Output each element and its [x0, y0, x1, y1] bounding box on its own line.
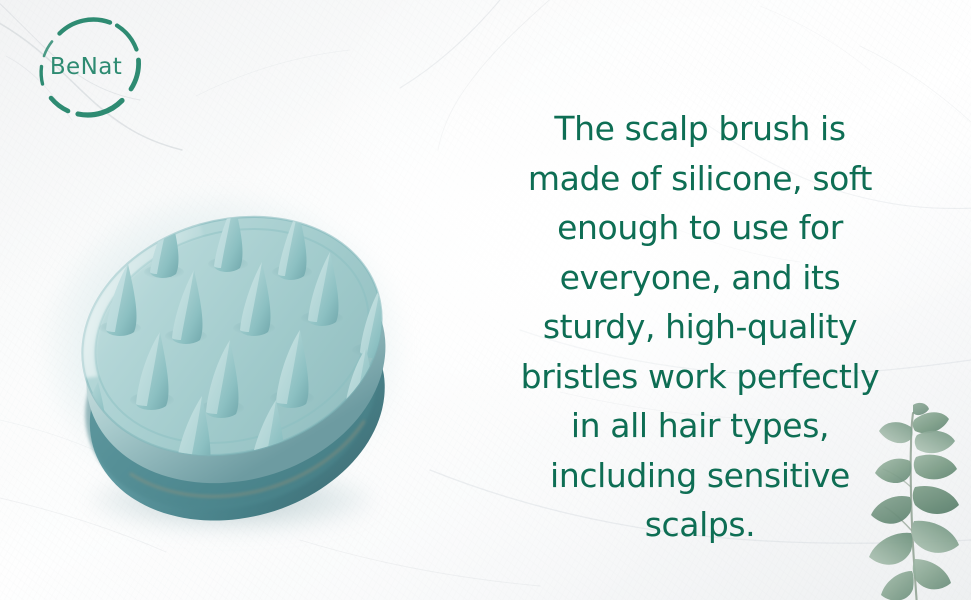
marketing-copy: The scalp brush is made of silicone, sof… — [498, 104, 902, 550]
copy-line: bristles work perfectly — [498, 352, 902, 402]
olive-branch-decoration — [855, 401, 971, 600]
copy-line: including sensitive — [498, 451, 902, 501]
copy-line: made of silicone, soft — [498, 154, 902, 204]
copy-line: sturdy, high-quality — [498, 302, 902, 352]
scalp-brush-illustration — [36, 168, 414, 528]
olive-branch-icon — [855, 401, 971, 600]
product-image-scalp-brush — [36, 168, 414, 528]
product-marketing-banner: BeNat — [0, 0, 971, 600]
copy-line: The scalp brush is — [498, 104, 902, 154]
copy-line: everyone, and its — [498, 253, 902, 303]
copy-line: in all hair types, — [498, 401, 902, 451]
brand-name: BeNat — [18, 52, 154, 82]
copy-line: enough to use for — [498, 203, 902, 253]
copy-line: scalps. — [498, 500, 902, 550]
brand-logo[interactable]: BeNat — [18, 6, 154, 130]
